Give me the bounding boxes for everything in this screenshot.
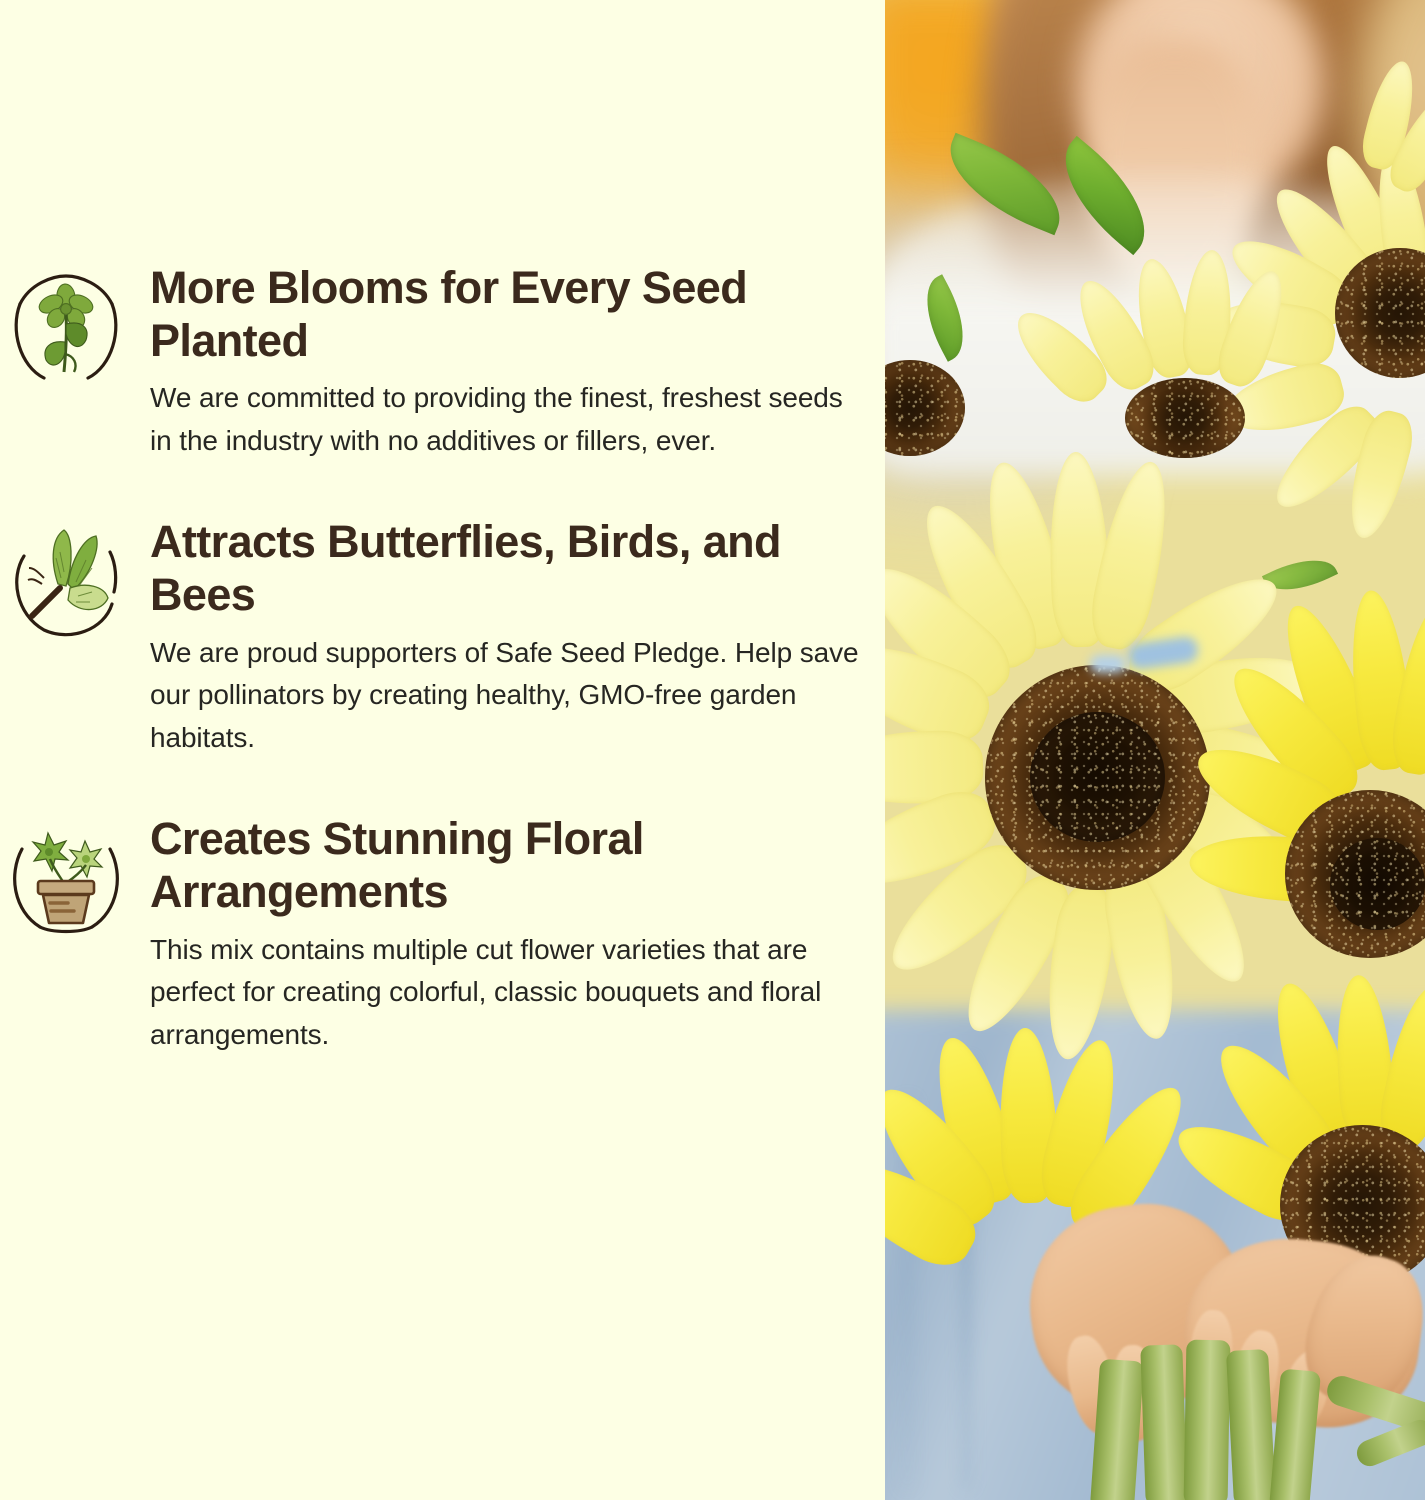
feature-text: Creates Stunning Floral Arrangements Thi… [126, 813, 885, 1056]
flower-sprout-icon [6, 268, 126, 388]
feature-heading: Attracts Butterflies, Birds, and Bees [150, 516, 850, 621]
features-panel: More Blooms for Every Seed Planted We ar… [0, 0, 885, 1500]
feature-heading: Creates Stunning Floral Arrangements [150, 813, 865, 918]
feature-text: Attracts Butterflies, Birds, and Bees We… [126, 516, 885, 759]
feature-body: This mix contains multiple cut flower va… [150, 929, 865, 1057]
butterfly-icon [6, 522, 126, 642]
sky-gap [1090, 655, 1126, 673]
flower-stem [1184, 1340, 1231, 1500]
feature-text: More Blooms for Every Seed Planted We ar… [126, 262, 885, 462]
sunflower-disc-small [1125, 378, 1245, 458]
feature-body: We are proud supporters of Safe Seed Ple… [150, 632, 862, 760]
feature-item: More Blooms for Every Seed Planted We ar… [0, 262, 885, 462]
feature-body: We are committed to providing the finest… [150, 377, 850, 462]
features-list: More Blooms for Every Seed Planted We ar… [0, 262, 885, 1056]
photo-stage [885, 0, 1425, 1500]
flower-stem [1140, 1344, 1188, 1500]
product-feature-panel: More Blooms for Every Seed Planted We ar… [0, 0, 1425, 1500]
feature-item: Creates Stunning Floral Arrangements Thi… [0, 813, 885, 1056]
feature-heading: More Blooms for Every Seed Planted [150, 262, 850, 367]
feature-item: Attracts Butterflies, Birds, and Bees We… [0, 516, 885, 759]
lifestyle-photo [885, 0, 1425, 1500]
flower-stem [1226, 1349, 1276, 1500]
potted-plant-icon [6, 819, 126, 939]
